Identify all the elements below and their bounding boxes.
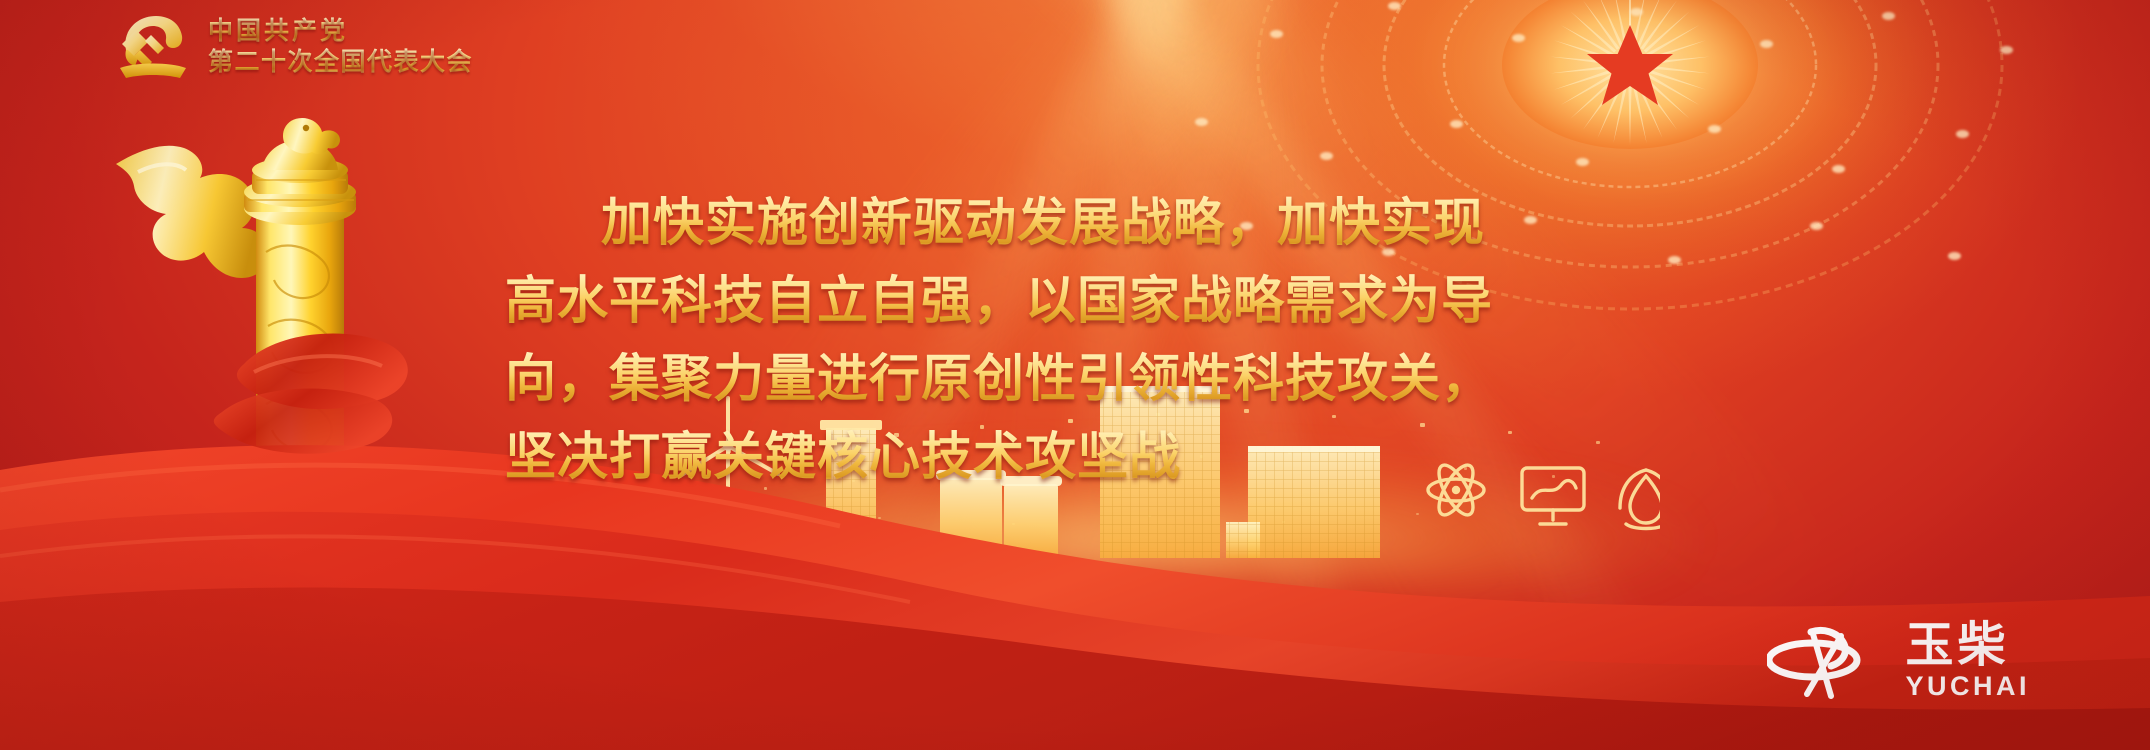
cpc-congress-logo: 中国共产党 第二十次全国代表大会 [112, 8, 473, 82]
low-rise-building-icon [620, 490, 696, 558]
slogan-line-2: 高水平科技自立自强，以国家战略需求为导 [505, 263, 1685, 341]
slogan-line-4: 坚决打赢关键核心技术攻坚战 [505, 419, 1685, 497]
ribbon-swirl-icon [126, 300, 456, 500]
yuchai-ellipse-mark-icon [1767, 620, 1887, 702]
huabiao-pillar-icon [108, 112, 408, 542]
cpc-logo-text: 中国共产党 第二十次全国代表大会 [208, 14, 473, 77]
cpc-logo-line-2: 第二十次全国代表大会 [208, 47, 473, 77]
yuchai-name-en: YUCHAI [1905, 672, 2030, 702]
banner-root: 中国共产党 第二十次全国代表大会 加快实施创新驱动发展战略，加快实现 高水平科技… [0, 0, 2150, 750]
yuchai-name-cn: 玉柴 [1905, 621, 2009, 670]
five-pointed-star-icon [1587, 25, 1673, 105]
tall-office-tower-icon [1226, 522, 1260, 558]
yuchai-wordmark: 玉柴 YUCHAI [1905, 621, 2030, 702]
hammer-and-sickle-icon [112, 8, 194, 82]
slogan-line-1: 加快实施创新驱动发展战略，加快实现 [505, 185, 1685, 263]
yuchai-logo: 玉柴 YUCHAI [1767, 620, 2030, 702]
cpc-logo-line-1: 中国共产党 [208, 16, 473, 46]
slogan-block: 加快实施创新驱动发展战略，加快实现 高水平科技自立自强，以国家战略需求为导 向，… [505, 185, 1685, 497]
slogan-line-3: 向，集聚力量进行原创性引领性科技攻关， [505, 341, 1685, 419]
